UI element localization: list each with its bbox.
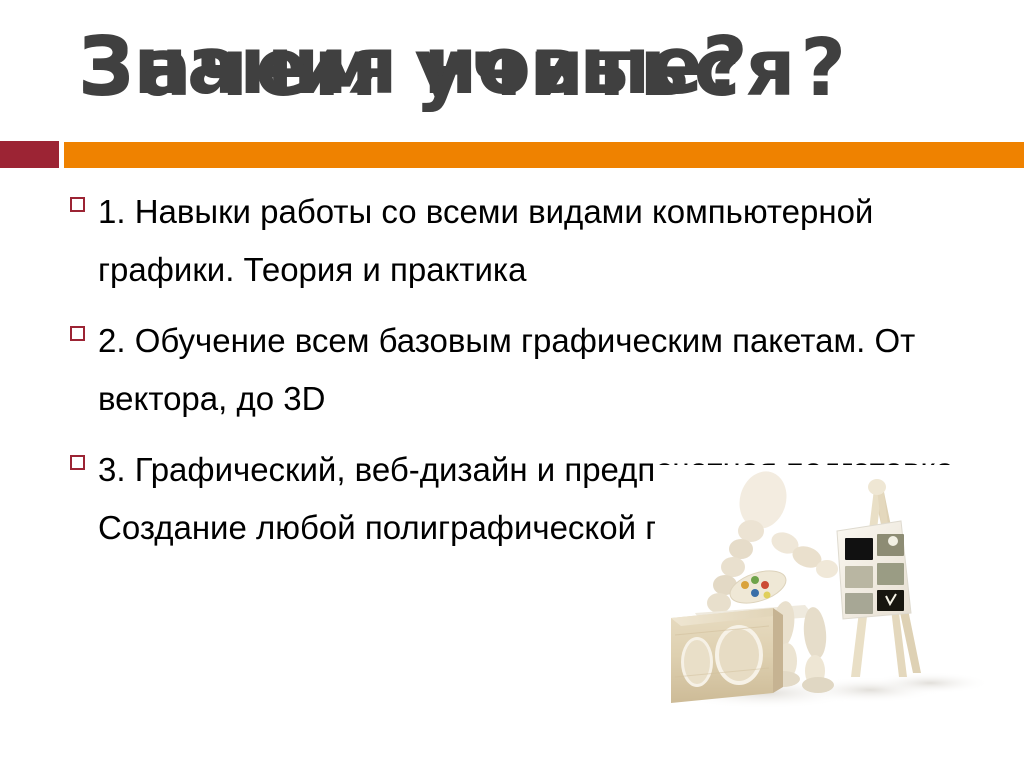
page-title: Знания новые? Зачем учиться? — [0, 14, 1024, 126]
list-item-label: 2. Обучение всем базовым графическим пак… — [98, 312, 978, 428]
page-title-secondary: Зачем учиться? — [78, 16, 978, 128]
accent-block-left — [0, 141, 59, 168]
accent-bar-orange — [64, 142, 1024, 168]
square-bullet-icon — [70, 455, 85, 470]
list-item: 1. Навыки работы со всеми видами компьют… — [70, 183, 1000, 299]
square-bullet-icon — [70, 197, 85, 212]
mannequin-easel-photo — [655, 465, 995, 720]
presentation-slide: Знания новые? Зачем учиться? 1. Навыки р… — [0, 0, 1024, 767]
list-item: 2. Обучение всем базовым графическим пак… — [70, 312, 1000, 428]
list-item-label: 1. Навыки работы со всеми видами компьют… — [98, 183, 978, 299]
square-bullet-icon — [70, 326, 85, 341]
